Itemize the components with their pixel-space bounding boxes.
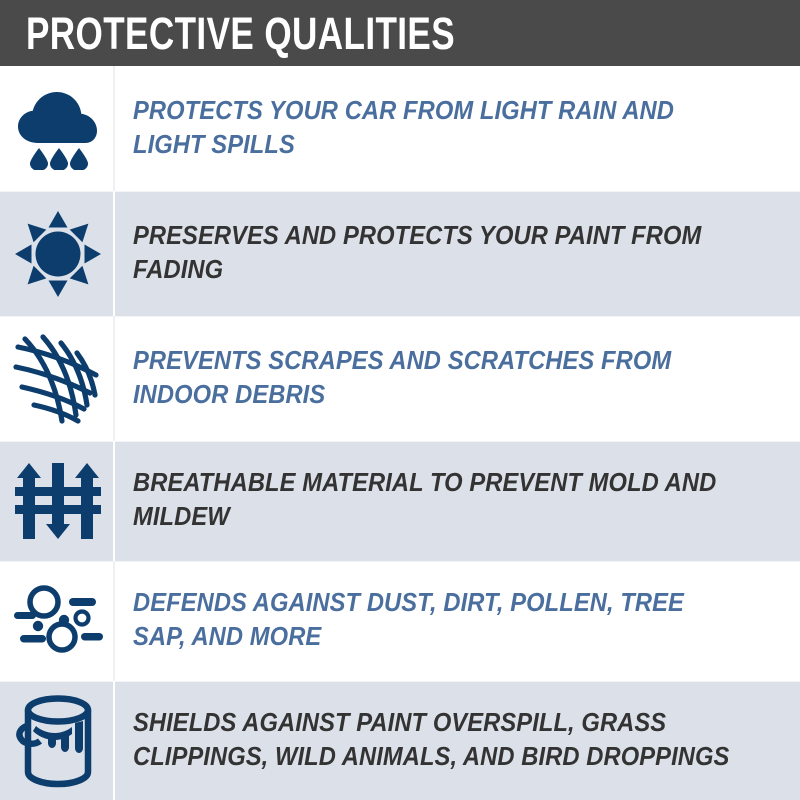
breathable-airflow-arrows-icon bbox=[15, 459, 101, 543]
text-cell-sun: PRESERVES AND PROTECTS YOUR PAINT FROM F… bbox=[115, 191, 800, 316]
feature-text-rain: PROTECTS YOUR CAR FROM LIGHT RAIN AND LI… bbox=[133, 95, 733, 162]
feature-row-dust: DEFENDS AGAINST DUST, DIRT, POLLEN, TREE… bbox=[0, 561, 800, 681]
text-cell-scratch: PREVENTS SCRAPES AND SCRATCHES FROM INDO… bbox=[115, 316, 800, 441]
icon-cell-breathable bbox=[0, 441, 115, 561]
icon-cell-rain bbox=[0, 66, 115, 191]
feature-row-rain: PROTECTS YOUR CAR FROM LIGHT RAIN AND LI… bbox=[0, 66, 800, 191]
feature-text-breathable: BREATHABLE MATERIAL TO PREVENT MOLD AND … bbox=[133, 467, 733, 534]
text-cell-paint: SHIELDS AGAINST PAINT OVERSPILL, GRASS C… bbox=[115, 681, 800, 800]
sun-icon bbox=[15, 211, 101, 297]
icon-cell-scratch bbox=[0, 316, 115, 441]
feature-list: PROTECTS YOUR CAR FROM LIGHT RAIN AND LI… bbox=[0, 66, 800, 800]
feature-text-scratch: PREVENTS SCRAPES AND SCRATCHES FROM INDO… bbox=[133, 345, 733, 412]
dust-particles-icon bbox=[12, 581, 104, 661]
icon-cell-dust bbox=[0, 561, 115, 681]
feature-row-scratch: PREVENTS SCRAPES AND SCRATCHES FROM INDO… bbox=[0, 316, 800, 441]
icon-cell-paint bbox=[0, 681, 115, 800]
paint-can-icon bbox=[15, 693, 101, 789]
mesh-scratch-icon bbox=[12, 331, 104, 427]
text-cell-dust: DEFENDS AGAINST DUST, DIRT, POLLEN, TREE… bbox=[115, 561, 800, 681]
feature-text-sun: PRESERVES AND PROTECTS YOUR PAINT FROM F… bbox=[133, 220, 733, 287]
header-bar: PROTECTIVE QUALITIES bbox=[0, 0, 800, 66]
page-title: PROTECTIVE QUALITIES bbox=[26, 11, 455, 56]
feature-row-sun: PRESERVES AND PROTECTS YOUR PAINT FROM F… bbox=[0, 191, 800, 316]
rain-cloud-icon bbox=[14, 88, 102, 170]
text-cell-rain: PROTECTS YOUR CAR FROM LIGHT RAIN AND LI… bbox=[115, 66, 800, 191]
icon-cell-sun bbox=[0, 191, 115, 316]
feature-row-breathable: BREATHABLE MATERIAL TO PREVENT MOLD AND … bbox=[0, 441, 800, 561]
feature-text-paint: SHIELDS AGAINST PAINT OVERSPILL, GRASS C… bbox=[133, 707, 733, 774]
feature-text-dust: DEFENDS AGAINST DUST, DIRT, POLLEN, TREE… bbox=[133, 587, 733, 654]
protective-qualities-infographic: PROTECTIVE QUALITIES PROTECTS YOUR CAR F… bbox=[0, 0, 800, 800]
feature-row-paint: SHIELDS AGAINST PAINT OVERSPILL, GRASS C… bbox=[0, 681, 800, 800]
text-cell-breathable: BREATHABLE MATERIAL TO PREVENT MOLD AND … bbox=[115, 441, 800, 561]
